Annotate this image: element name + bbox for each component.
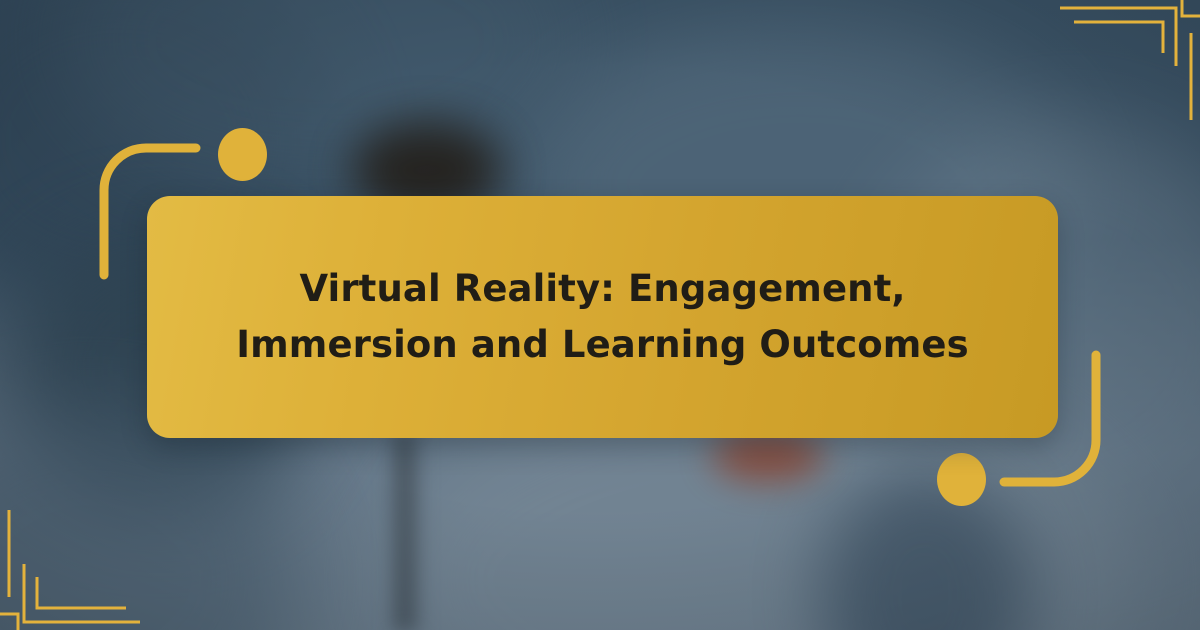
title-card-canvas: Virtual Reality: Engagement, Immersion a… — [0, 0, 1200, 630]
dot-ornament-bottom-right-icon — [937, 453, 986, 506]
dot-ornament-top-left-icon — [218, 128, 267, 181]
page-title: Virtual Reality: Engagement, Immersion a… — [221, 261, 984, 373]
title-card: Virtual Reality: Engagement, Immersion a… — [147, 196, 1058, 438]
